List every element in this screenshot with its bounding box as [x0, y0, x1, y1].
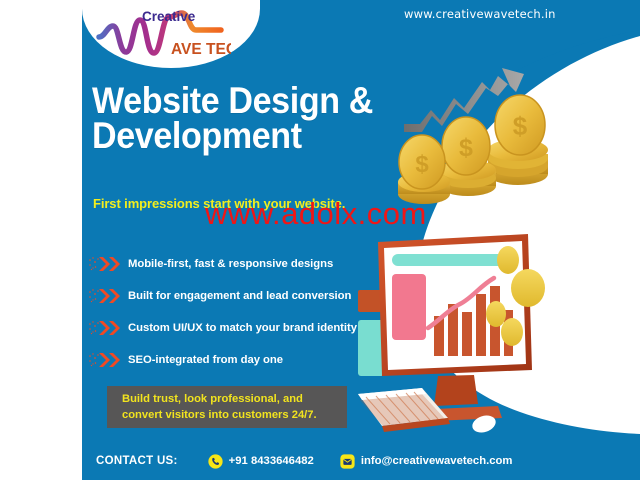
floating-coin [497, 246, 519, 274]
svg-text:$: $ [415, 151, 429, 178]
headline-line-2: Development [92, 119, 396, 154]
email-contact[interactable]: info@creativewavetech.com [340, 454, 513, 469]
feature-list: Mobile-first, fast & responsive designs … [88, 248, 388, 376]
floating-coin [511, 269, 545, 307]
svg-text:Creative: Creative [142, 9, 196, 24]
email-address: info@creativewavetech.com [361, 455, 513, 467]
double-chevron-icon [88, 319, 122, 337]
email-icon [340, 454, 355, 469]
floating-coin [486, 301, 506, 327]
floating-coin [501, 318, 523, 346]
phone-number: +91 8433646482 [229, 455, 314, 467]
callout-line-2: convert visitors into customers 24/7. [122, 407, 347, 423]
brand-logo[interactable]: Creative AVE TECH [96, 6, 231, 58]
double-chevron-icon [88, 287, 122, 305]
list-item-label: Built for engagement and lead conversion [128, 290, 351, 302]
contact-label: CONTACT US: [96, 455, 178, 467]
double-chevron-icon [88, 255, 122, 273]
gold-coins-growth-arrow-illustration: $ $ $ [398, 62, 588, 207]
coin-stack-right: $ [488, 95, 548, 185]
advertisement-poster: Creative AVE TECH www.creativewavetech.i… [0, 0, 640, 480]
callout-box: Build trust, look professional, and conv… [107, 386, 347, 428]
list-item: Custom UI/UX to match your brand identit… [88, 312, 388, 344]
list-item: Built for engagement and lead conversion [88, 280, 388, 312]
list-item-label: Mobile-first, fast & responsive designs [128, 258, 333, 270]
svg-text:$: $ [513, 111, 528, 141]
list-item-label: SEO-integrated from day one [128, 354, 283, 366]
website-url[interactable]: www.creativewavetech.in [404, 7, 556, 21]
creative-wave-tech-logo-icon: Creative AVE TECH [96, 6, 231, 58]
svg-text:$: $ [459, 134, 473, 162]
list-item: SEO-integrated from day one [88, 344, 388, 376]
callout-line-1: Build trust, look professional, and [122, 391, 347, 407]
page-title: Website Design & Development [92, 84, 396, 154]
double-chevron-icon [88, 351, 122, 369]
list-item-label: Custom UI/UX to match your brand identit… [128, 322, 357, 334]
list-item: Mobile-first, fast & responsive designs [88, 248, 388, 280]
contact-bar: CONTACT US: +91 8433646482 info@creative… [96, 450, 538, 472]
phone-contact[interactable]: +91 8433646482 [208, 454, 314, 469]
svg-text:AVE TECH: AVE TECH [171, 41, 231, 58]
phone-icon [208, 454, 223, 469]
watermark: www.adolx.com [205, 196, 427, 232]
monitor-chart-illustration [356, 228, 606, 448]
